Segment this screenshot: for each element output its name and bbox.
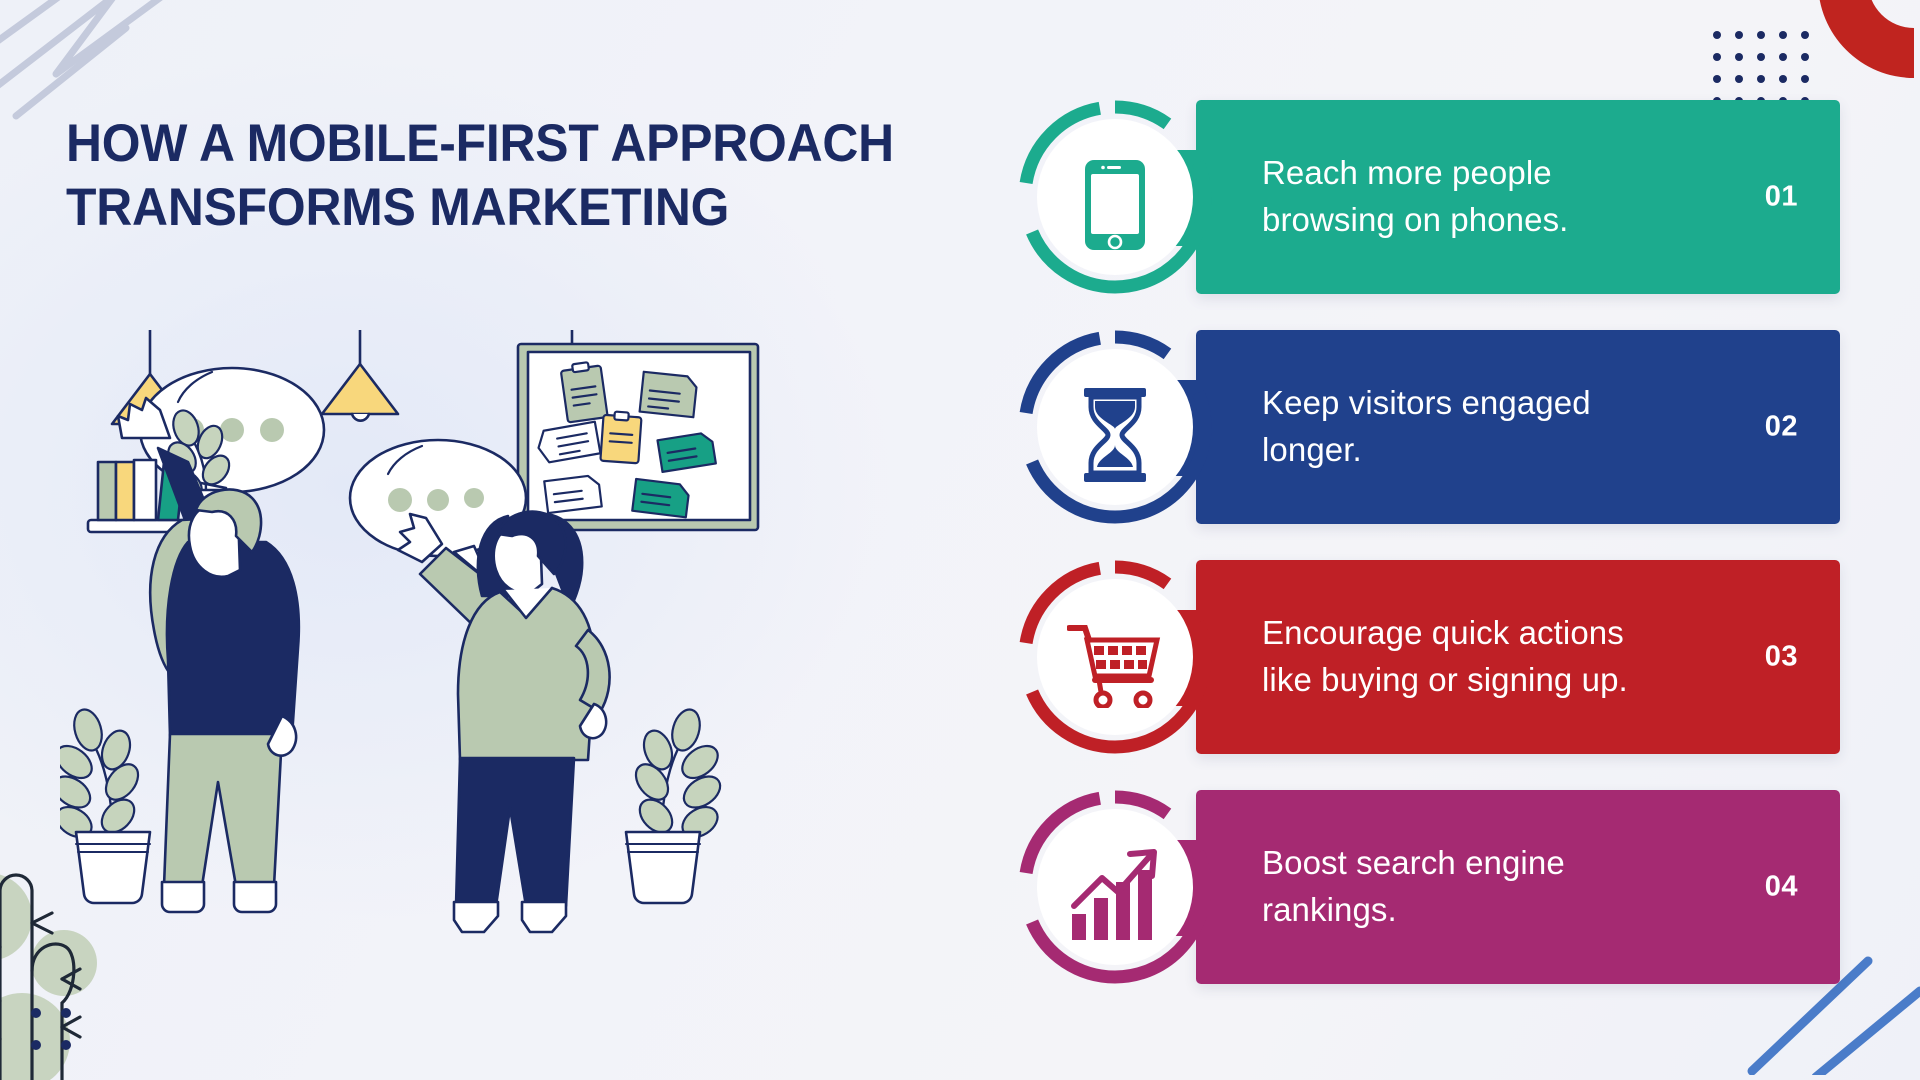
hourglass-icon	[1010, 330, 1220, 540]
benefit-card-number: 02	[1765, 411, 1798, 444]
benefit-card-text: Encourage quick actions like buying or s…	[1196, 610, 1666, 704]
infographic-canvas: HOW A MOBILE-FIRST APPROACH TRANSFORMS M…	[0, 0, 1920, 1080]
benefit-card-row: Boost search engine rankings. 04	[1010, 790, 1840, 984]
mobile-phone-icon	[1010, 100, 1220, 310]
benefit-card[interactable]: Reach more people browsing on phones. 01	[1196, 100, 1840, 294]
page-title-line-1: HOW A MOBILE-FIRST APPROACH	[66, 112, 837, 176]
benefit-card-number: 01	[1765, 181, 1798, 214]
benefit-card-number: 04	[1765, 871, 1798, 904]
benefit-card[interactable]: Encourage quick actions like buying or s…	[1196, 560, 1840, 754]
benefit-card-text: Keep visitors engaged longer.	[1196, 380, 1666, 474]
benefit-card[interactable]: Keep visitors engaged longer. 02	[1196, 330, 1840, 524]
shopping-cart-icon	[1010, 560, 1220, 770]
benefit-card[interactable]: Boost search engine rankings. 04	[1196, 790, 1840, 984]
shopping-cart-icon	[1067, 622, 1163, 708]
benefit-cards-list: Reach more people browsing on phones. 01…	[1010, 100, 1840, 984]
hourglass-icon	[1078, 387, 1152, 483]
benefit-card-text: Boost search engine rankings.	[1196, 840, 1666, 934]
page-title: HOW A MOBILE-FIRST APPROACH TRANSFORMS M…	[66, 112, 837, 239]
benefit-card-number: 03	[1765, 641, 1798, 674]
office-conversation-illustration	[60, 330, 800, 1015]
benefit-card-text: Reach more people browsing on phones.	[1196, 150, 1666, 244]
benefit-card-row: Keep visitors engaged longer. 02	[1010, 330, 1840, 524]
benefit-card-row: Reach more people browsing on phones. 01	[1010, 100, 1840, 294]
dot-grid-decoration-top-right	[1712, 30, 1812, 111]
mobile-phone-icon	[1083, 158, 1147, 252]
page-title-line-2: TRANSFORMS MARKETING	[66, 176, 837, 240]
growth-chart-icon	[1068, 848, 1162, 942]
benefit-card-row: Encourage quick actions like buying or s…	[1010, 560, 1840, 754]
growth-chart-icon	[1010, 790, 1220, 1000]
arc-decoration-top-right	[1794, 0, 1920, 93]
